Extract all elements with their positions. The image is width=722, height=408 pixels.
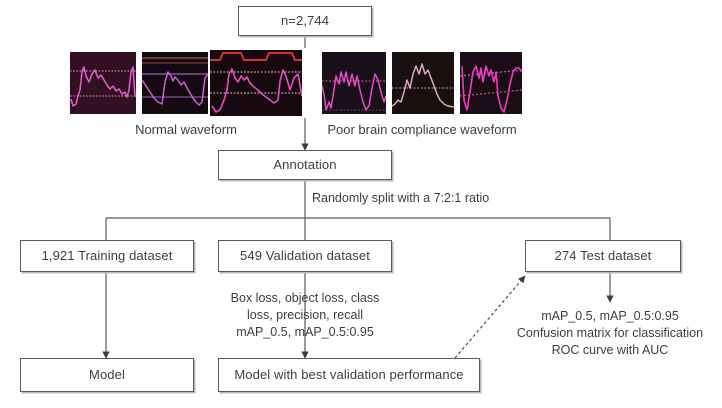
node-total-cohort: n=2,744 [238, 6, 372, 36]
node-training-dataset: 1,921 Training dataset [20, 240, 194, 272]
node-model: Model [20, 358, 194, 392]
poor-waveform-caption: Poor brain compliance waveform [322, 122, 522, 137]
validation-metrics-text: Box loss, object loss, class loss, preci… [207, 290, 403, 340]
node-annotation: Annotation [218, 150, 392, 180]
node-validation-dataset: 549 Validation dataset [218, 240, 392, 272]
poor-waveform-3 [460, 52, 522, 114]
split-ratio-label: Randomly split with a 7:2:1 ratio [312, 191, 489, 205]
test-metrics-text: mAP_0.5, mAP_0.5:0.95 Confusion matrix f… [501, 308, 719, 358]
node-best-validation-model: Model with best validation performance [218, 358, 480, 392]
flowchart-figure: Normal waveform Poor brain compliance wa… [0, 0, 722, 408]
normal-waveform-caption: Normal waveform [70, 122, 302, 137]
normal-waveform-3 [210, 50, 302, 116]
normal-waveform-1 [70, 52, 136, 114]
poor-waveform-1 [322, 52, 386, 114]
normal-waveform-2 [142, 52, 208, 114]
node-test-dataset: 274 Test dataset [525, 240, 681, 272]
poor-waveform-2 [392, 52, 454, 114]
